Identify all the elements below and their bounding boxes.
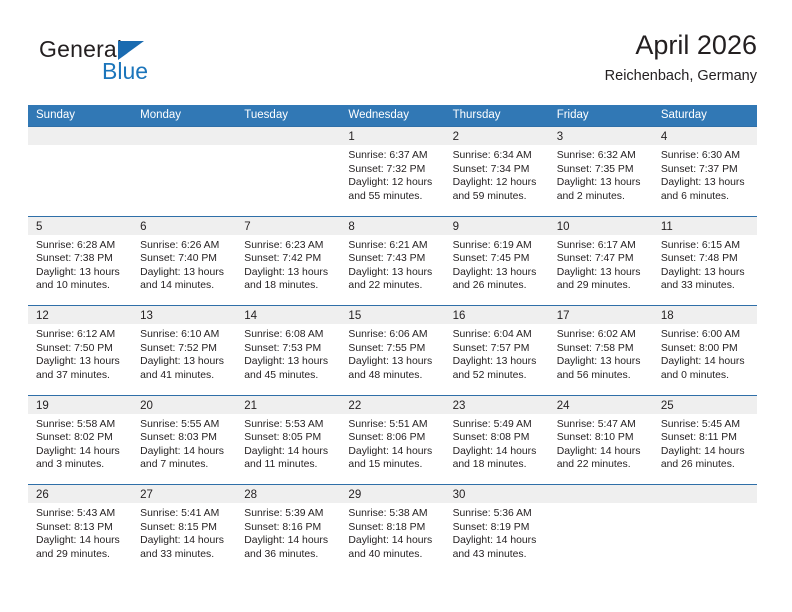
daylight-text-line1: Daylight: 12 hours (348, 176, 438, 190)
sunrise-text: Sunrise: 5:58 AM (36, 418, 126, 432)
daylight-text-line2: and 11 minutes. (244, 458, 334, 472)
day-number-band: 5 (28, 217, 132, 235)
sunset-text: Sunset: 8:03 PM (140, 431, 230, 445)
sunrise-text: Sunrise: 6:30 AM (661, 149, 751, 163)
sunrise-text: Sunrise: 5:39 AM (244, 507, 334, 521)
daylight-text-line2: and 43 minutes. (453, 548, 543, 562)
daylight-text-line2: and 22 minutes. (348, 279, 438, 293)
day-cell[interactable]: 12 Sunrise: 6:12 AM Sunset: 7:50 PM Dayl… (28, 306, 132, 395)
daylight-text-line2: and 6 minutes. (661, 190, 751, 204)
daylight-text-line1: Daylight: 13 hours (557, 355, 647, 369)
day-number: 23 (453, 400, 466, 412)
day-cell[interactable]: 13 Sunrise: 6:10 AM Sunset: 7:52 PM Dayl… (132, 306, 236, 395)
sunrise-text: Sunrise: 5:41 AM (140, 507, 230, 521)
weekday-header-sunday: Sunday (28, 105, 132, 126)
day-cell[interactable]: 27 Sunrise: 5:41 AM Sunset: 8:15 PM Dayl… (132, 485, 236, 574)
day-number: 11 (661, 221, 673, 233)
daylight-text-line1: Daylight: 14 hours (453, 534, 543, 548)
day-number: 14 (244, 310, 257, 322)
calendar-week-row: 5 Sunrise: 6:28 AM Sunset: 7:38 PM Dayli… (28, 216, 757, 306)
daylight-text-line2: and 14 minutes. (140, 279, 230, 293)
day-cell[interactable]: 8 Sunrise: 6:21 AM Sunset: 7:43 PM Dayli… (340, 217, 444, 306)
day-details: Sunrise: 6:37 AM Sunset: 7:32 PM Dayligh… (340, 145, 444, 203)
day-number: 24 (557, 400, 570, 412)
daylight-text-line2: and 18 minutes. (453, 458, 543, 472)
day-number-band: 22 (340, 396, 444, 414)
daylight-text-line2: and 2 minutes. (557, 190, 647, 204)
day-cell[interactable]: 20 Sunrise: 5:55 AM Sunset: 8:03 PM Dayl… (132, 396, 236, 485)
sunset-text: Sunset: 7:45 PM (453, 252, 543, 266)
day-number-band: 1 (340, 127, 444, 145)
daylight-text-line1: Daylight: 13 hours (348, 355, 438, 369)
day-number: 30 (453, 489, 466, 501)
day-details: Sunrise: 6:19 AM Sunset: 7:45 PM Dayligh… (445, 235, 549, 293)
day-details: Sunrise: 5:43 AM Sunset: 8:13 PM Dayligh… (28, 503, 132, 561)
daylight-text-line1: Daylight: 13 hours (557, 176, 647, 190)
page-title: April 2026 (605, 28, 757, 62)
daylight-text-line1: Daylight: 13 hours (348, 266, 438, 280)
sunrise-text: Sunrise: 5:51 AM (348, 418, 438, 432)
day-cell[interactable]: 25 Sunrise: 5:45 AM Sunset: 8:11 PM Dayl… (653, 396, 757, 485)
day-details: Sunrise: 5:58 AM Sunset: 8:02 PM Dayligh… (28, 414, 132, 472)
daylight-text-line2: and 41 minutes. (140, 369, 230, 383)
day-cell[interactable]: 16 Sunrise: 6:04 AM Sunset: 7:57 PM Dayl… (445, 306, 549, 395)
daylight-text-line2: and 18 minutes. (244, 279, 334, 293)
day-cell[interactable]: 26 Sunrise: 5:43 AM Sunset: 8:13 PM Dayl… (28, 485, 132, 574)
daylight-text-line1: Daylight: 13 hours (661, 176, 751, 190)
daylight-text-line2: and 59 minutes. (453, 190, 543, 204)
daylight-text-line2: and 26 minutes. (453, 279, 543, 293)
day-cell[interactable]: 3 Sunrise: 6:32 AM Sunset: 7:35 PM Dayli… (549, 127, 653, 216)
day-cell[interactable]: 17 Sunrise: 6:02 AM Sunset: 7:58 PM Dayl… (549, 306, 653, 395)
sunset-text: Sunset: 8:18 PM (348, 521, 438, 535)
weekday-header-saturday: Saturday (653, 105, 757, 126)
sunrise-text: Sunrise: 5:53 AM (244, 418, 334, 432)
sunrise-text: Sunrise: 6:21 AM (348, 239, 438, 253)
sunset-text: Sunset: 8:06 PM (348, 431, 438, 445)
day-cell[interactable]: 29 Sunrise: 5:38 AM Sunset: 8:18 PM Dayl… (340, 485, 444, 574)
weekday-header-tuesday: Tuesday (236, 105, 340, 126)
sunrise-text: Sunrise: 5:47 AM (557, 418, 647, 432)
daylight-text-line1: Daylight: 14 hours (244, 534, 334, 548)
day-cell[interactable] (236, 127, 340, 216)
day-number-band: 7 (236, 217, 340, 235)
day-cell[interactable]: 21 Sunrise: 5:53 AM Sunset: 8:05 PM Dayl… (236, 396, 340, 485)
day-cell[interactable]: 30 Sunrise: 5:36 AM Sunset: 8:19 PM Dayl… (445, 485, 549, 574)
day-number: 29 (348, 489, 361, 501)
day-cell[interactable]: 2 Sunrise: 6:34 AM Sunset: 7:34 PM Dayli… (445, 127, 549, 216)
sunrise-text: Sunrise: 6:23 AM (244, 239, 334, 253)
day-details: Sunrise: 6:34 AM Sunset: 7:34 PM Dayligh… (445, 145, 549, 203)
day-cell[interactable]: 5 Sunrise: 6:28 AM Sunset: 7:38 PM Dayli… (28, 217, 132, 306)
daylight-text-line2: and 55 minutes. (348, 190, 438, 204)
weekday-header-wednesday: Wednesday (340, 105, 444, 126)
day-number-band: 2 (445, 127, 549, 145)
day-number: 10 (557, 221, 570, 233)
day-number: 26 (36, 489, 49, 501)
day-number-band: 16 (445, 306, 549, 324)
day-cell[interactable]: 6 Sunrise: 6:26 AM Sunset: 7:40 PM Dayli… (132, 217, 236, 306)
day-number: 20 (140, 400, 153, 412)
sunset-text: Sunset: 8:02 PM (36, 431, 126, 445)
sunrise-text: Sunrise: 5:36 AM (453, 507, 543, 521)
daylight-text-line2: and 37 minutes. (36, 369, 126, 383)
day-number-band: 6 (132, 217, 236, 235)
day-details: Sunrise: 6:21 AM Sunset: 7:43 PM Dayligh… (340, 235, 444, 293)
daylight-text-line2: and 15 minutes. (348, 458, 438, 472)
day-cell[interactable]: 11 Sunrise: 6:15 AM Sunset: 7:48 PM Dayl… (653, 217, 757, 306)
sunrise-text: Sunrise: 6:37 AM (348, 149, 438, 163)
calendar-week-row: 12 Sunrise: 6:12 AM Sunset: 7:50 PM Dayl… (28, 305, 757, 395)
day-number-band (549, 485, 653, 503)
day-details: Sunrise: 5:47 AM Sunset: 8:10 PM Dayligh… (549, 414, 653, 472)
daylight-text-line2: and 52 minutes. (453, 369, 543, 383)
day-details: Sunrise: 6:10 AM Sunset: 7:52 PM Dayligh… (132, 324, 236, 382)
day-details: Sunrise: 6:30 AM Sunset: 7:37 PM Dayligh… (653, 145, 757, 203)
day-number-band: 13 (132, 306, 236, 324)
day-number-band (132, 127, 236, 145)
day-details: Sunrise: 6:06 AM Sunset: 7:55 PM Dayligh… (340, 324, 444, 382)
day-details: Sunrise: 6:15 AM Sunset: 7:48 PM Dayligh… (653, 235, 757, 293)
location-subtitle: Reichenbach, Germany (605, 67, 757, 85)
day-number-band: 12 (28, 306, 132, 324)
day-details: Sunrise: 6:04 AM Sunset: 7:57 PM Dayligh… (445, 324, 549, 382)
day-number-band: 9 (445, 217, 549, 235)
day-details: Sunrise: 6:00 AM Sunset: 8:00 PM Dayligh… (653, 324, 757, 382)
calendar-grid: Sunday Monday Tuesday Wednesday Thursday… (28, 105, 757, 574)
daylight-text-line1: Daylight: 13 hours (36, 355, 126, 369)
weekday-header-monday: Monday (132, 105, 236, 126)
sunrise-text: Sunrise: 6:19 AM (453, 239, 543, 253)
day-number-band: 3 (549, 127, 653, 145)
sunrise-text: Sunrise: 6:34 AM (453, 149, 543, 163)
day-number: 12 (36, 310, 49, 322)
daylight-text-line1: Daylight: 14 hours (140, 534, 230, 548)
day-cell[interactable]: 15 Sunrise: 6:06 AM Sunset: 7:55 PM Dayl… (340, 306, 444, 395)
day-number-band: 14 (236, 306, 340, 324)
day-cell[interactable]: 7 Sunrise: 6:23 AM Sunset: 7:42 PM Dayli… (236, 217, 340, 306)
sunset-text: Sunset: 7:43 PM (348, 252, 438, 266)
sunrise-text: Sunrise: 6:26 AM (140, 239, 230, 253)
day-number-band: 18 (653, 306, 757, 324)
daylight-text-line2: and 56 minutes. (557, 369, 647, 383)
day-number: 1 (348, 131, 354, 143)
day-details: Sunrise: 6:23 AM Sunset: 7:42 PM Dayligh… (236, 235, 340, 293)
calendar-week-row: 1 Sunrise: 6:37 AM Sunset: 7:32 PM Dayli… (28, 126, 757, 216)
daylight-text-line1: Daylight: 13 hours (140, 355, 230, 369)
day-details: Sunrise: 6:08 AM Sunset: 7:53 PM Dayligh… (236, 324, 340, 382)
sunset-text: Sunset: 7:37 PM (661, 163, 751, 177)
logo-text-blue: Blue (102, 58, 148, 84)
sunset-text: Sunset: 8:05 PM (244, 431, 334, 445)
sunrise-text: Sunrise: 6:08 AM (244, 328, 334, 342)
day-number-band: 28 (236, 485, 340, 503)
day-number-band: 11 (653, 217, 757, 235)
sunset-text: Sunset: 7:34 PM (453, 163, 543, 177)
sunset-text: Sunset: 7:32 PM (348, 163, 438, 177)
day-number-band: 30 (445, 485, 549, 503)
daylight-text-line1: Daylight: 14 hours (140, 445, 230, 459)
daylight-text-line1: Daylight: 14 hours (661, 355, 751, 369)
daylight-text-line2: and 36 minutes. (244, 548, 334, 562)
day-number: 19 (36, 400, 49, 412)
day-cell[interactable] (549, 485, 653, 574)
sunrise-text: Sunrise: 6:04 AM (453, 328, 543, 342)
daylight-text-line1: Daylight: 13 hours (661, 266, 751, 280)
day-number: 15 (348, 310, 361, 322)
day-number: 9 (453, 221, 459, 233)
day-cell[interactable] (28, 127, 132, 216)
day-number-band (28, 127, 132, 145)
daylight-text-line2: and 3 minutes. (36, 458, 126, 472)
sunset-text: Sunset: 7:50 PM (36, 342, 126, 356)
daylight-text-line1: Daylight: 13 hours (140, 266, 230, 280)
day-cell[interactable]: 10 Sunrise: 6:17 AM Sunset: 7:47 PM Dayl… (549, 217, 653, 306)
sunrise-text: Sunrise: 6:10 AM (140, 328, 230, 342)
day-number-band: 8 (340, 217, 444, 235)
daylight-text-line1: Daylight: 14 hours (348, 445, 438, 459)
day-number: 8 (348, 221, 354, 233)
sunrise-text: Sunrise: 6:00 AM (661, 328, 751, 342)
day-number: 4 (661, 131, 667, 143)
sunset-text: Sunset: 8:08 PM (453, 431, 543, 445)
day-cell[interactable] (653, 485, 757, 574)
day-cell[interactable]: 23 Sunrise: 5:49 AM Sunset: 8:08 PM Dayl… (445, 396, 549, 485)
day-number-band: 26 (28, 485, 132, 503)
day-number: 21 (244, 400, 257, 412)
weekday-header-thursday: Thursday (445, 105, 549, 126)
day-number: 5 (36, 221, 42, 233)
day-details: Sunrise: 5:36 AM Sunset: 8:19 PM Dayligh… (445, 503, 549, 561)
day-cell[interactable]: 14 Sunrise: 6:08 AM Sunset: 7:53 PM Dayl… (236, 306, 340, 395)
sunset-text: Sunset: 7:40 PM (140, 252, 230, 266)
sunrise-text: Sunrise: 6:28 AM (36, 239, 126, 253)
sunrise-text: Sunrise: 6:12 AM (36, 328, 126, 342)
sunset-text: Sunset: 8:16 PM (244, 521, 334, 535)
sunset-text: Sunset: 7:58 PM (557, 342, 647, 356)
day-number: 25 (661, 400, 674, 412)
day-details: Sunrise: 5:41 AM Sunset: 8:15 PM Dayligh… (132, 503, 236, 561)
daylight-text-line1: Daylight: 13 hours (557, 266, 647, 280)
day-cell[interactable]: 28 Sunrise: 5:39 AM Sunset: 8:16 PM Dayl… (236, 485, 340, 574)
sunrise-text: Sunrise: 6:02 AM (557, 328, 647, 342)
calendar-week-row: 19 Sunrise: 5:58 AM Sunset: 8:02 PM Dayl… (28, 395, 757, 485)
day-details: Sunrise: 6:12 AM Sunset: 7:50 PM Dayligh… (28, 324, 132, 382)
day-cell[interactable]: 19 Sunrise: 5:58 AM Sunset: 8:02 PM Dayl… (28, 396, 132, 485)
day-cell[interactable]: 22 Sunrise: 5:51 AM Sunset: 8:06 PM Dayl… (340, 396, 444, 485)
day-number: 22 (348, 400, 361, 412)
daylight-text-line2: and 29 minutes. (557, 279, 647, 293)
day-details: Sunrise: 5:39 AM Sunset: 8:16 PM Dayligh… (236, 503, 340, 561)
sunrise-text: Sunrise: 6:06 AM (348, 328, 438, 342)
daylight-text-line1: Daylight: 12 hours (453, 176, 543, 190)
sunset-text: Sunset: 7:42 PM (244, 252, 334, 266)
daylight-text-line2: and 26 minutes. (661, 458, 751, 472)
day-number-band: 24 (549, 396, 653, 414)
day-details: Sunrise: 5:38 AM Sunset: 8:18 PM Dayligh… (340, 503, 444, 561)
sunset-text: Sunset: 8:00 PM (661, 342, 751, 356)
sunrise-text: Sunrise: 6:17 AM (557, 239, 647, 253)
day-cell[interactable]: 18 Sunrise: 6:00 AM Sunset: 8:00 PM Dayl… (653, 306, 757, 395)
daylight-text-line1: Daylight: 14 hours (661, 445, 751, 459)
day-number-band (236, 127, 340, 145)
day-details: Sunrise: 6:32 AM Sunset: 7:35 PM Dayligh… (549, 145, 653, 203)
daylight-text-line2: and 0 minutes. (661, 369, 751, 383)
sunrise-text: Sunrise: 6:32 AM (557, 149, 647, 163)
day-number-band: 20 (132, 396, 236, 414)
daylight-text-line2: and 7 minutes. (140, 458, 230, 472)
day-number: 28 (244, 489, 257, 501)
day-cell[interactable]: 24 Sunrise: 5:47 AM Sunset: 8:10 PM Dayl… (549, 396, 653, 485)
sunset-text: Sunset: 7:53 PM (244, 342, 334, 356)
day-number-band: 27 (132, 485, 236, 503)
day-details: Sunrise: 5:49 AM Sunset: 8:08 PM Dayligh… (445, 414, 549, 472)
sunset-text: Sunset: 7:52 PM (140, 342, 230, 356)
daylight-text-line2: and 33 minutes. (140, 548, 230, 562)
daylight-text-line1: Daylight: 14 hours (453, 445, 543, 459)
daylight-text-line2: and 22 minutes. (557, 458, 647, 472)
day-number: 27 (140, 489, 153, 501)
daylight-text-line2: and 29 minutes. (36, 548, 126, 562)
day-number-band: 19 (28, 396, 132, 414)
day-details: Sunrise: 6:02 AM Sunset: 7:58 PM Dayligh… (549, 324, 653, 382)
day-number-band: 21 (236, 396, 340, 414)
daylight-text-line1: Daylight: 13 hours (244, 266, 334, 280)
sunrise-text: Sunrise: 5:43 AM (36, 507, 126, 521)
day-number-band: 4 (653, 127, 757, 145)
daylight-text-line1: Daylight: 14 hours (348, 534, 438, 548)
sunset-text: Sunset: 7:57 PM (453, 342, 543, 356)
daylight-text-line1: Daylight: 14 hours (36, 534, 126, 548)
daylight-text-line1: Daylight: 13 hours (244, 355, 334, 369)
day-number: 7 (244, 221, 250, 233)
weekday-header-friday: Friday (549, 105, 653, 126)
page-header: General Blue April 2026 Reichenbach, Ger… (28, 28, 757, 98)
calendar-page: General Blue April 2026 Reichenbach, Ger… (0, 0, 792, 612)
day-number-band: 10 (549, 217, 653, 235)
day-number: 6 (140, 221, 146, 233)
day-number: 16 (453, 310, 466, 322)
weekday-header-row: Sunday Monday Tuesday Wednesday Thursday… (28, 105, 757, 126)
day-details: Sunrise: 6:26 AM Sunset: 7:40 PM Dayligh… (132, 235, 236, 293)
day-number-band: 25 (653, 396, 757, 414)
day-number: 13 (140, 310, 153, 322)
daylight-text-line1: Daylight: 13 hours (453, 266, 543, 280)
general-blue-logo[interactable]: General Blue (39, 36, 169, 92)
daylight-text-line2: and 10 minutes. (36, 279, 126, 293)
daylight-text-line1: Daylight: 14 hours (36, 445, 126, 459)
daylight-text-line1: Daylight: 13 hours (36, 266, 126, 280)
day-details: Sunrise: 5:51 AM Sunset: 8:06 PM Dayligh… (340, 414, 444, 472)
sunset-text: Sunset: 7:55 PM (348, 342, 438, 356)
sunset-text: Sunset: 8:10 PM (557, 431, 647, 445)
sunset-text: Sunset: 7:48 PM (661, 252, 751, 266)
daylight-text-line2: and 48 minutes. (348, 369, 438, 383)
daylight-text-line2: and 33 minutes. (661, 279, 751, 293)
sunset-text: Sunset: 8:11 PM (661, 431, 751, 445)
sunrise-text: Sunrise: 6:15 AM (661, 239, 751, 253)
day-number-band: 23 (445, 396, 549, 414)
sunset-text: Sunset: 8:13 PM (36, 521, 126, 535)
day-number-band: 15 (340, 306, 444, 324)
day-details: Sunrise: 6:28 AM Sunset: 7:38 PM Dayligh… (28, 235, 132, 293)
calendar-week-row: 26 Sunrise: 5:43 AM Sunset: 8:13 PM Dayl… (28, 484, 757, 574)
day-details: Sunrise: 5:45 AM Sunset: 8:11 PM Dayligh… (653, 414, 757, 472)
day-details: Sunrise: 6:17 AM Sunset: 7:47 PM Dayligh… (549, 235, 653, 293)
day-number-band: 29 (340, 485, 444, 503)
daylight-text-line1: Daylight: 13 hours (453, 355, 543, 369)
sunset-text: Sunset: 8:15 PM (140, 521, 230, 535)
daylight-text-line1: Daylight: 14 hours (244, 445, 334, 459)
daylight-text-line2: and 45 minutes. (244, 369, 334, 383)
sunrise-text: Sunrise: 5:55 AM (140, 418, 230, 432)
daylight-text-line1: Daylight: 14 hours (557, 445, 647, 459)
sunset-text: Sunset: 7:35 PM (557, 163, 647, 177)
day-number: 18 (661, 310, 674, 322)
day-number: 17 (557, 310, 570, 322)
day-cell[interactable]: 9 Sunrise: 6:19 AM Sunset: 7:45 PM Dayli… (445, 217, 549, 306)
day-number-band: 17 (549, 306, 653, 324)
sunrise-text: Sunrise: 5:38 AM (348, 507, 438, 521)
sunset-text: Sunset: 7:38 PM (36, 252, 126, 266)
day-cell[interactable]: 1 Sunrise: 6:37 AM Sunset: 7:32 PM Dayli… (340, 127, 444, 216)
sunrise-text: Sunrise: 5:45 AM (661, 418, 751, 432)
day-number-band (653, 485, 757, 503)
title-block: April 2026 Reichenbach, Germany (605, 28, 757, 85)
sunset-text: Sunset: 8:19 PM (453, 521, 543, 535)
day-details: Sunrise: 5:55 AM Sunset: 8:03 PM Dayligh… (132, 414, 236, 472)
day-details: Sunrise: 5:53 AM Sunset: 8:05 PM Dayligh… (236, 414, 340, 472)
day-cell[interactable]: 4 Sunrise: 6:30 AM Sunset: 7:37 PM Dayli… (653, 127, 757, 216)
day-number: 2 (453, 131, 459, 143)
sunset-text: Sunset: 7:47 PM (557, 252, 647, 266)
daylight-text-line2: and 40 minutes. (348, 548, 438, 562)
sunrise-text: Sunrise: 5:49 AM (453, 418, 543, 432)
day-cell[interactable] (132, 127, 236, 216)
day-number: 3 (557, 131, 563, 143)
